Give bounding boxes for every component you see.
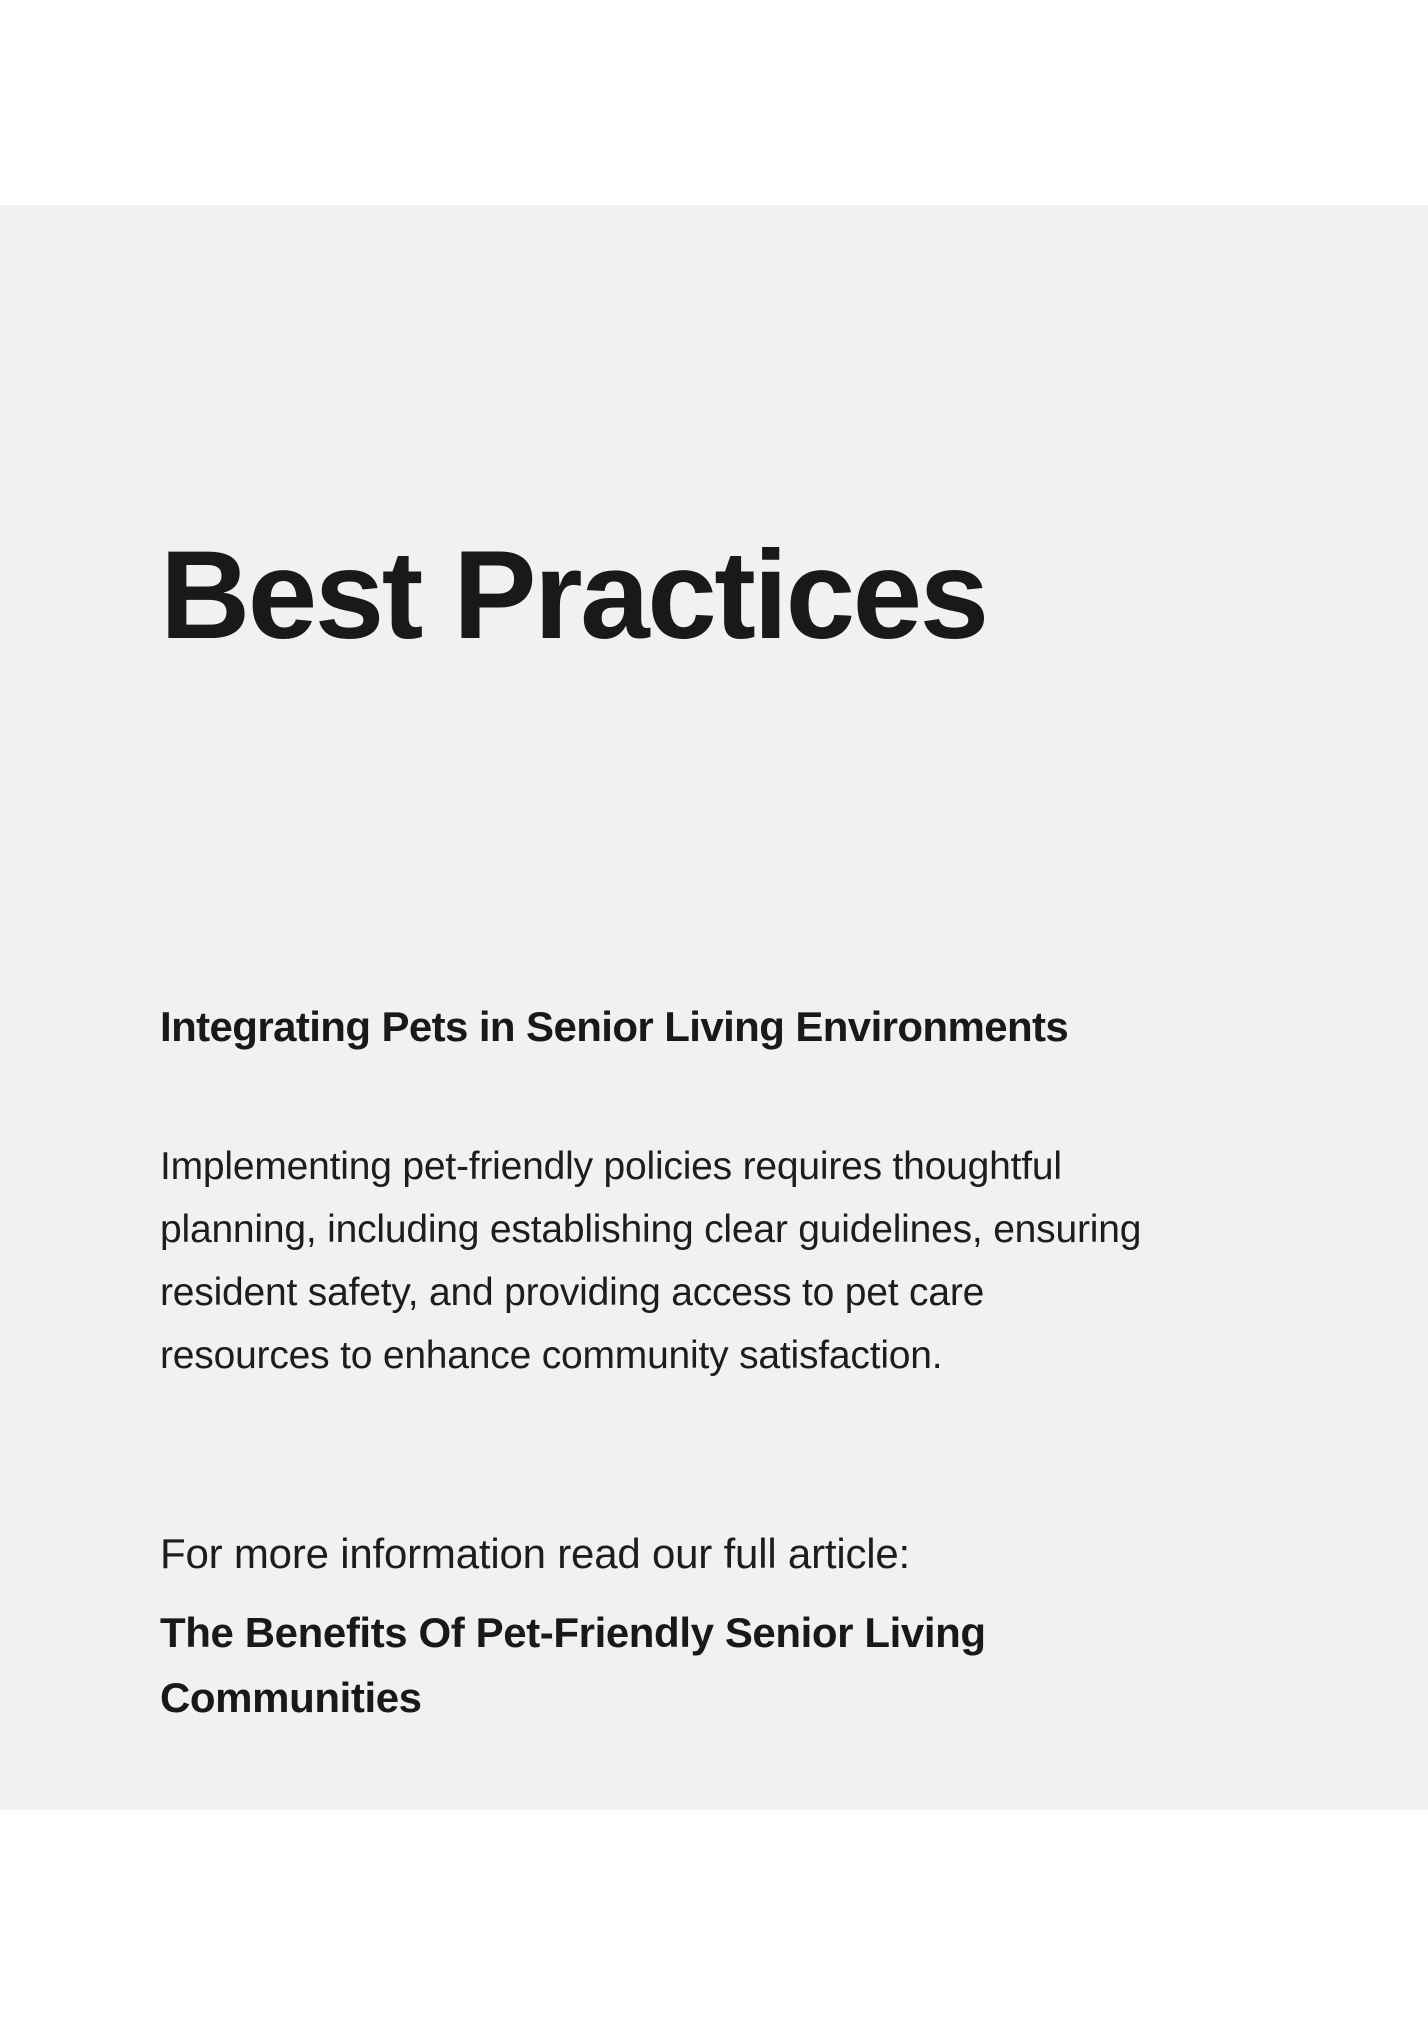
cta-article-title[interactable]: The Benefits Of Pet-Friendly Senior Livi… [160, 1600, 1120, 1730]
call-to-action-block: For more information read our full artic… [160, 1521, 1220, 1730]
section-subheading: Integrating Pets in Senior Living Enviro… [160, 1003, 1068, 1051]
card-content-wrapper: Best Practices Integrating Pets in Senio… [160, 205, 1428, 1810]
page-root: Best Practices Integrating Pets in Senio… [0, 0, 1428, 2018]
page-title: Best Practices [160, 533, 987, 658]
content-card: Best Practices Integrating Pets in Senio… [0, 205, 1428, 1810]
body-paragraph: Implementing pet-friendly policies requi… [160, 1135, 1160, 1387]
cta-lead-text: For more information read our full artic… [160, 1521, 1220, 1586]
